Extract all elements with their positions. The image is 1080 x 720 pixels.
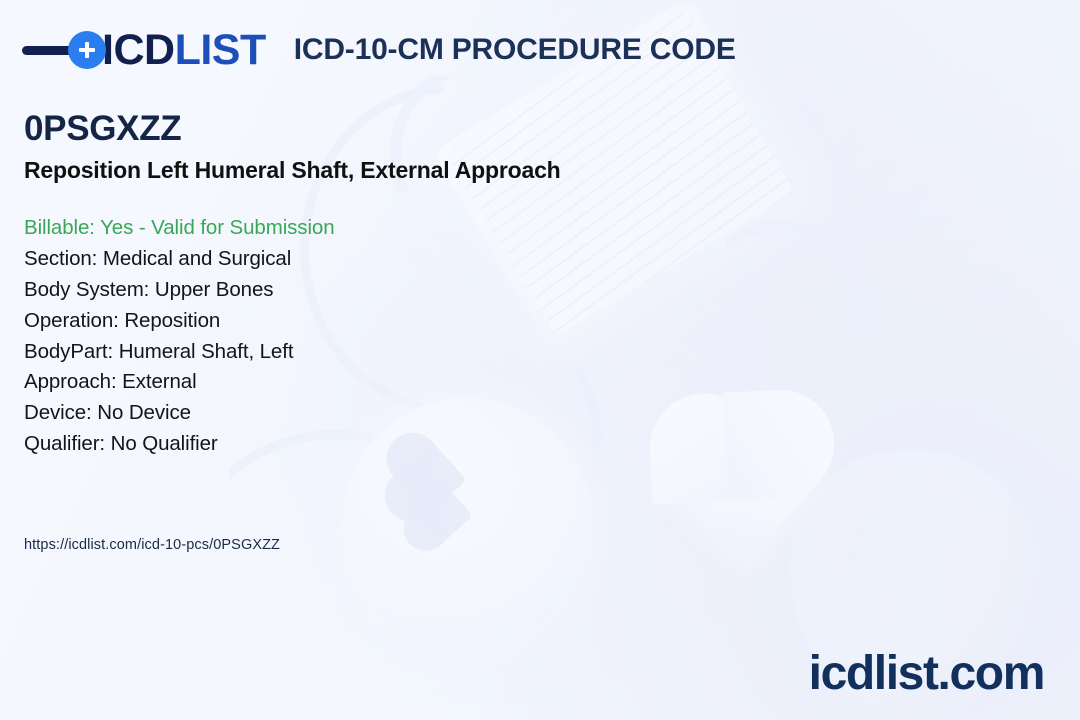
detail-row-operation: Operation: Reposition — [24, 306, 724, 337]
logo-word-secondary: LIST — [175, 26, 266, 74]
procedure-code: 0PSGXZZ — [24, 110, 724, 148]
logo-word-primary: ICD — [102, 26, 175, 74]
hand-finger-middle — [890, 483, 964, 630]
hand-finger-upper — [840, 459, 928, 615]
detail-row-approach: Approach: External — [24, 367, 724, 398]
procedure-description: Reposition Left Humeral Shaft, External … — [24, 157, 724, 185]
source-url[interactable]: https://icdlist.com/icd-10-pcs/0PSGXZZ — [24, 537, 280, 553]
procedure-detail-list: Billable: Yes - Valid for Submission Sec… — [24, 213, 724, 459]
stethoscope-tube-arc-lower — [170, 430, 500, 720]
page-header: ICDLIST ICD-10-CM PROCEDURE CODE — [22, 24, 736, 76]
procedure-record: 0PSGXZZ Reposition Left Humeral Shaft, E… — [24, 110, 724, 460]
detail-row-body-part: BodyPart: Humeral Shaft, Left — [24, 337, 724, 368]
detail-row-qualifier: Qualifier: No Qualifier — [24, 429, 724, 460]
detail-row-billable: Billable: Yes - Valid for Submission — [24, 213, 724, 244]
plus-in-circle-icon — [68, 31, 106, 69]
page-title: ICD-10-CM PROCEDURE CODE — [294, 33, 736, 67]
detail-row-section: Section: Medical and Surgical — [24, 244, 724, 275]
page-root: ICDLIST ICD-10-CM PROCEDURE CODE 0PSGXZZ… — [0, 0, 1080, 720]
small-paper-heart-lower — [411, 483, 473, 545]
site-watermark: icdlist.com — [809, 650, 1044, 698]
hand-finger-lower — [810, 510, 903, 644]
detail-row-device: Device: No Device — [24, 398, 724, 429]
logo-wordmark: ICDLIST — [102, 29, 266, 72]
detail-row-body-system: Body System: Upper Bones — [24, 275, 724, 306]
icdlist-logo[interactable]: ICDLIST — [22, 29, 266, 72]
